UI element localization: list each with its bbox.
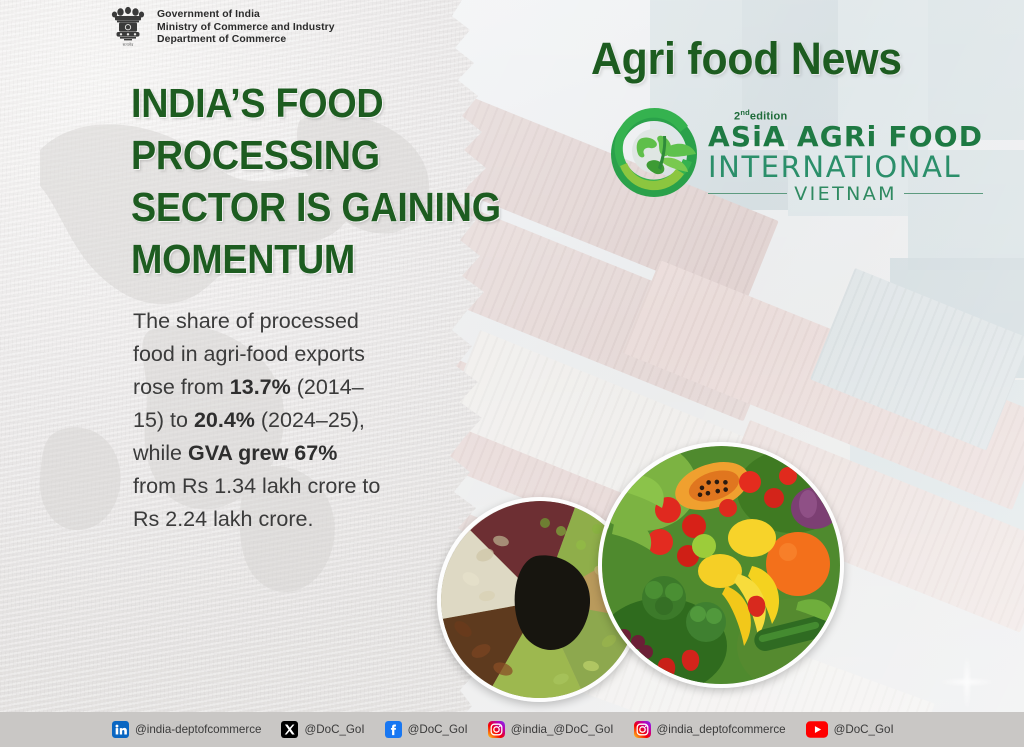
- fruits-vegetables-photo: [598, 442, 844, 688]
- government-branding: सत्यमेव Government of India Ministry of …: [108, 4, 335, 48]
- social-item-x[interactable]: @DoC_GoI: [281, 721, 364, 738]
- svg-text:सत्यमेव: सत्यमेव: [123, 42, 135, 47]
- youtube-icon[interactable]: [806, 721, 828, 738]
- sparkle-icon: [940, 655, 994, 709]
- headline-line-4: MOMENTUM: [131, 239, 462, 280]
- gov-line-2: Ministry of Commerce and Industry: [157, 22, 335, 35]
- handle-text: @DoC_GoI: [304, 723, 364, 736]
- social-item-youtube[interactable]: @DoC_GoI: [806, 721, 894, 738]
- handle-text: @DoC_GoI: [408, 723, 468, 736]
- social-item-instagram-1[interactable]: @india_@DoC_GoI: [488, 721, 614, 738]
- logo-line-3: VIETNAM: [708, 183, 983, 205]
- handle-text: @DoC_GoI: [834, 723, 894, 736]
- logo-line-2: INTERNATIONAL: [708, 152, 983, 183]
- social-item-instagram-2[interactable]: @india_deptofcommerce: [634, 721, 786, 738]
- agri-food-news-title: Agri food News: [591, 36, 902, 82]
- body-paragraph: The share of processed food in agri-food…: [133, 305, 383, 536]
- social-item-linkedin[interactable]: @india-deptofcommerce: [112, 721, 261, 738]
- fruits-vegetables-image: [602, 446, 842, 686]
- rule-left: [708, 193, 787, 194]
- ashoka-emblem-icon: सत्यमेव: [108, 4, 148, 48]
- handle-text: @india_deptofcommerce: [657, 723, 786, 736]
- asia-agri-food-wordmark: 2ndedition ASiA AGRi FOOD INTERNATIONAL …: [708, 104, 983, 205]
- headline-line-2: PROCESSING: [131, 135, 462, 176]
- handle-text: @india_@DoC_GoI: [511, 723, 614, 736]
- linkedin-icon[interactable]: [112, 721, 129, 738]
- infographic-poster: सत्यमेव Government of India Ministry of …: [0, 0, 1024, 747]
- headline-line-1: INDIA’S FOOD: [131, 83, 462, 124]
- gov-line-1: Government of India: [157, 9, 335, 22]
- logo-line-1: ASiA AGRi FOOD: [708, 122, 983, 152]
- social-footer: @india-deptofcommerce @DoC_GoI @DoC_GoI: [0, 712, 1024, 747]
- gov-line-3: Department of Commerce: [157, 34, 335, 47]
- social-item-facebook[interactable]: @DoC_GoI: [385, 721, 468, 738]
- headline-line-3: SECTOR IS GAINING: [131, 187, 462, 228]
- instagram-icon[interactable]: [488, 721, 505, 738]
- handle-text: @india-deptofcommerce: [135, 723, 261, 736]
- asia-agri-food-logo: 2ndedition ASiA AGRi FOOD INTERNATIONAL …: [606, 104, 983, 205]
- instagram-icon[interactable]: [634, 721, 651, 738]
- facebook-icon[interactable]: [385, 721, 402, 738]
- x-twitter-icon[interactable]: [281, 721, 298, 738]
- rule-right: [904, 193, 983, 194]
- headline: INDIA’S FOOD PROCESSING SECTOR IS GAININ…: [131, 83, 491, 291]
- social-handles-list: @india-deptofcommerce @DoC_GoI @DoC_GoI: [0, 721, 894, 738]
- globe-leaf-icon: [606, 106, 702, 202]
- logo-country: VIETNAM: [794, 183, 897, 205]
- ministry-lines: Government of India Ministry of Commerce…: [157, 4, 335, 47]
